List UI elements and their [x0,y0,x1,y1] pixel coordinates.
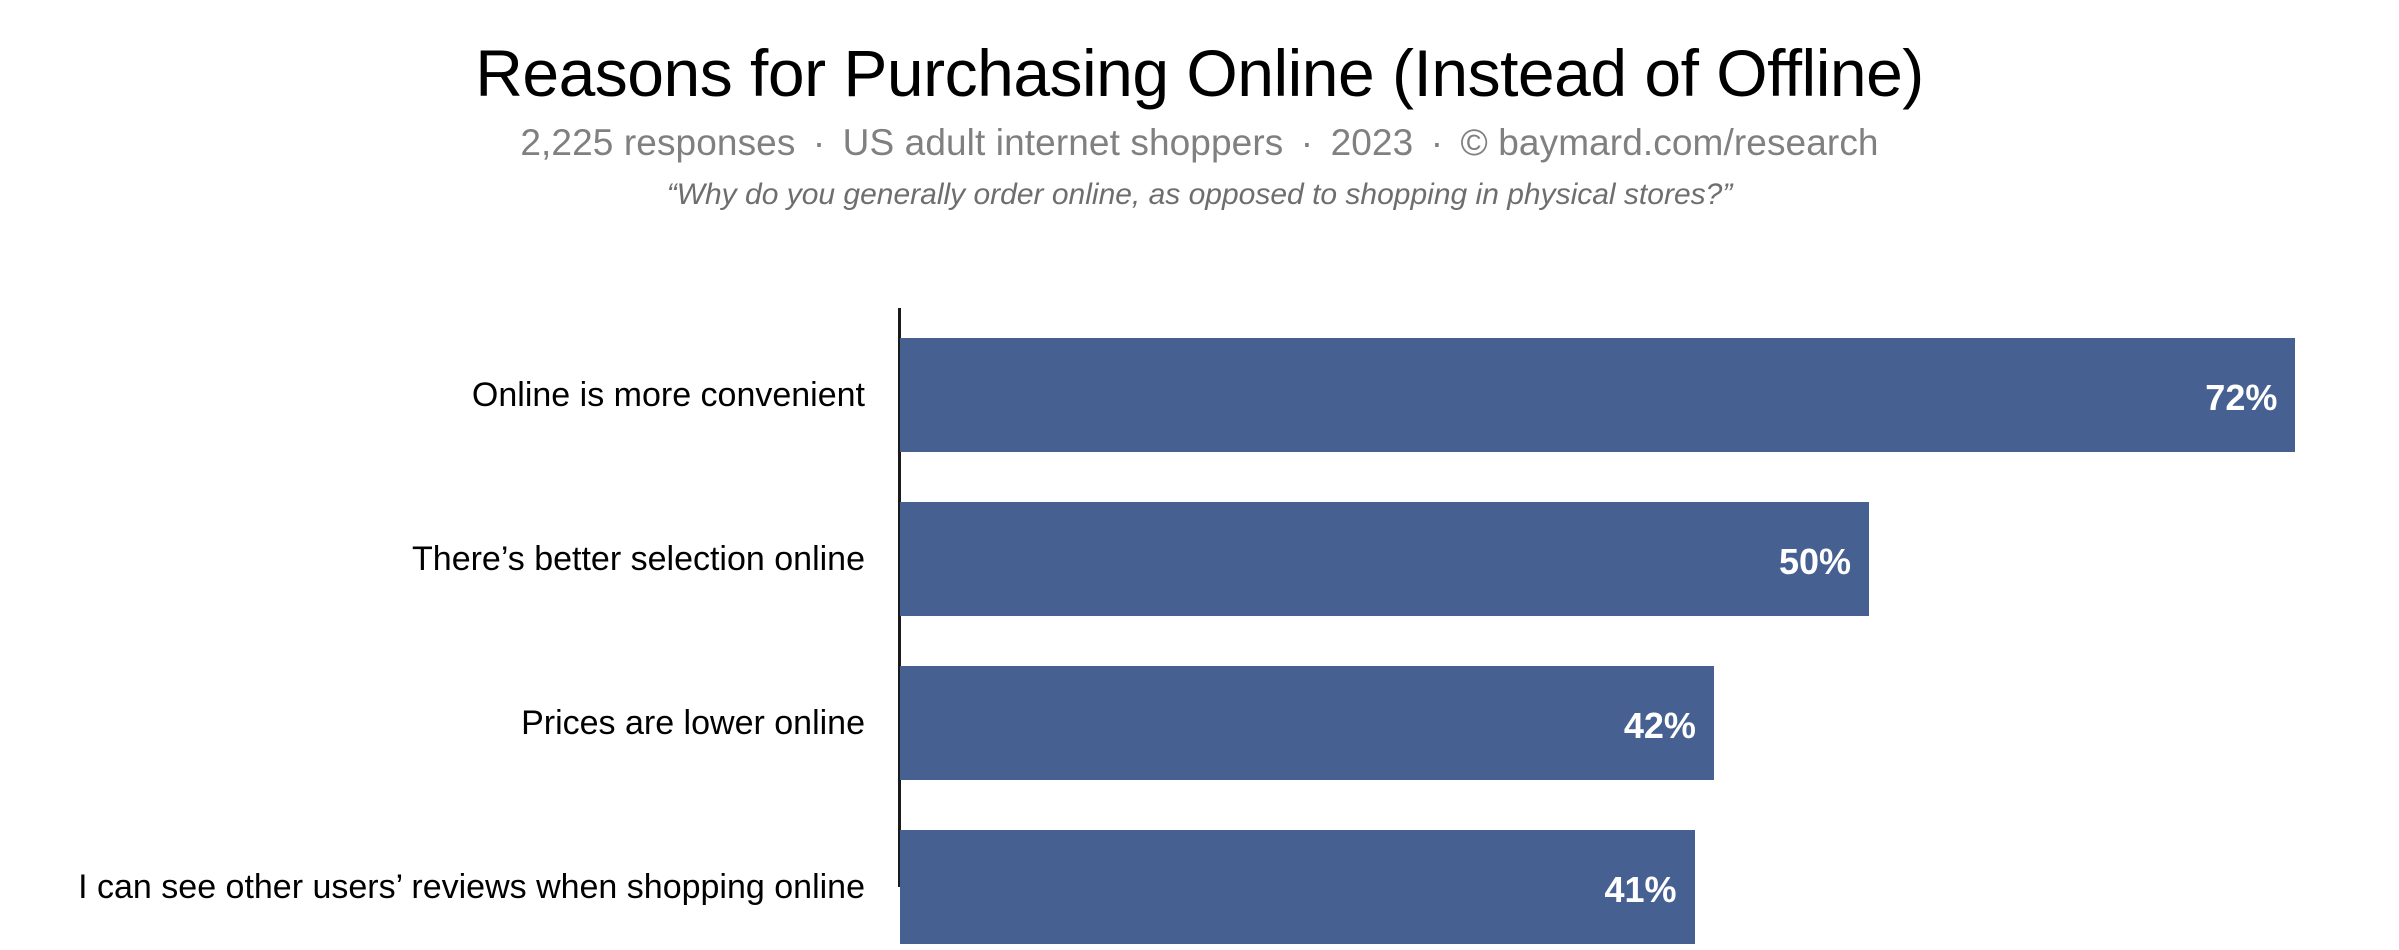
chart-figure: Reasons for Purchasing Online (Instead o… [0,0,2399,887]
bar-category-label: Online is more convenient [472,338,865,452]
bar-category-label: I can see other users’ reviews when shop… [78,830,865,944]
plot-area: Online is more convenient72%There’s bett… [0,308,2399,887]
bar-value-label: 72% [2205,338,2277,452]
subtitle-audience: US adult internet shoppers [843,122,1284,163]
bar-value-label: 41% [1605,830,1677,944]
bar-fill[interactable] [900,830,1695,944]
chart-title: Reasons for Purchasing Online (Instead o… [0,0,2399,109]
bar-series: Online is more convenient72%There’s bett… [0,308,2399,887]
bar-track: 42% [900,666,1714,780]
subtitle-separator-3: · [1424,122,1450,163]
bar-track: 72% [900,338,2295,452]
bar-track: 50% [900,502,1869,616]
bar-category-label: Prices are lower online [521,666,865,780]
bar-row: I can see other users’ reviews when shop… [0,830,2399,944]
bar-row: Prices are lower online42% [0,666,2399,780]
bar-fill[interactable] [900,502,1869,616]
subtitle-separator-2: · [1294,122,1320,163]
subtitle-year: 2023 [1331,122,1414,163]
survey-question: “Why do you generally order online, as o… [0,164,2399,211]
subtitle-separator-1: · [806,122,832,163]
bar-category-label: There’s better selection online [412,502,865,616]
bar-fill[interactable] [900,338,2295,452]
subtitle-source: © baymard.com/research [1461,122,1879,163]
bar-row: There’s better selection online50% [0,502,2399,616]
chart-header: Reasons for Purchasing Online (Instead o… [0,0,2399,211]
bar-row: Online is more convenient72% [0,338,2399,452]
chart-subtitle: 2,225 responses · US adult internet shop… [0,109,2399,164]
bar-track: 41% [900,830,1695,944]
subtitle-responses: 2,225 responses [520,122,795,163]
bar-fill[interactable] [900,666,1714,780]
bar-value-label: 42% [1624,666,1696,780]
bar-value-label: 50% [1779,502,1851,616]
